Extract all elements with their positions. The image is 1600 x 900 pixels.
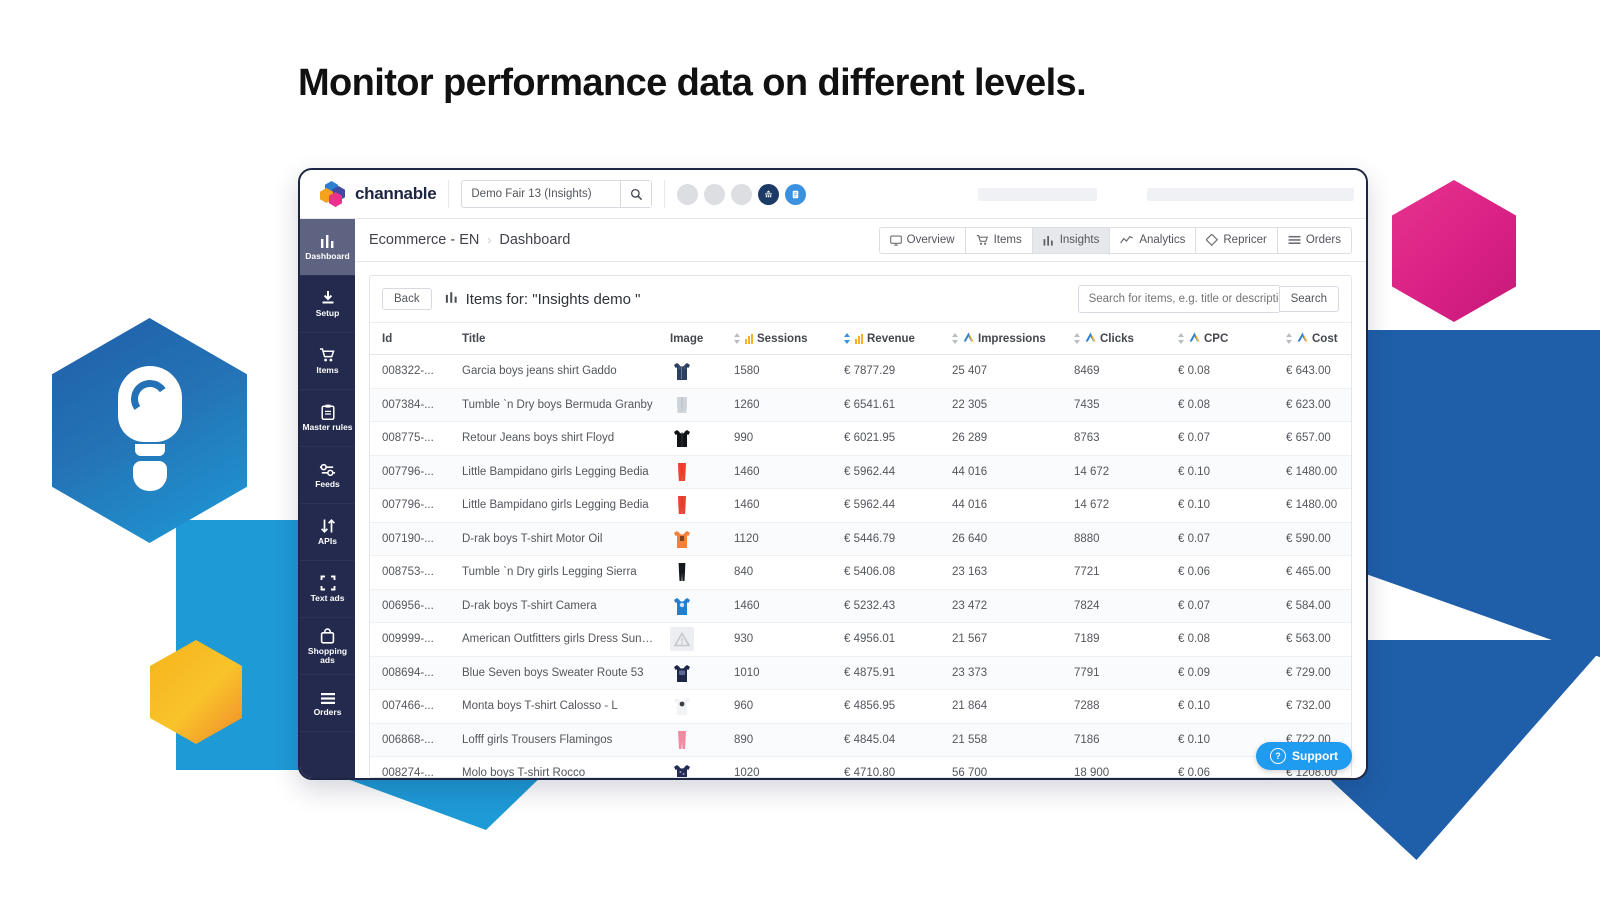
table-row[interactable]: 008322-...Garcia boys jeans shirt Gaddo1…	[370, 355, 1351, 389]
cell-id: 008322-...	[370, 355, 456, 389]
missing-image-placeholder-thumbnail	[670, 627, 722, 651]
tab-items[interactable]: Items	[965, 227, 1032, 254]
sidebar-item-apis[interactable]: APIs	[300, 504, 355, 561]
cell-cpc: € 0.08	[1172, 388, 1280, 422]
sidebar-item-label: Master rules	[302, 423, 352, 433]
cell-clicks: 14 672	[1068, 489, 1172, 523]
cell-clicks: 7186	[1068, 723, 1172, 757]
cell-impressions: 26 289	[946, 422, 1068, 456]
bar-chart-icon	[320, 232, 336, 249]
sort-toggle-icon[interactable]	[844, 333, 851, 344]
sort-toggle-icon[interactable]	[952, 333, 959, 344]
table-row[interactable]: 007796-...Little Bampidano girls Legging…	[370, 455, 1351, 489]
cell-sessions: 1020	[728, 757, 838, 778]
cell-cost: € 1480.00	[1280, 489, 1351, 523]
cell-id: 006868-...	[370, 723, 456, 757]
cell-revenue: € 4845.04	[838, 723, 946, 757]
cell-revenue: € 4856.95	[838, 690, 946, 724]
cell-cpc: € 0.07	[1172, 589, 1280, 623]
cart-icon	[319, 346, 336, 363]
cell-revenue: € 6541.61	[838, 388, 946, 422]
cell-revenue: € 5962.44	[838, 455, 946, 489]
sort-toggle-icon[interactable]	[1286, 333, 1293, 344]
cell-title: Tumble `n Dry boys Bermuda Granby	[456, 388, 664, 422]
tab-label: Overview	[907, 234, 955, 246]
table-row[interactable]: 008753-...Tumble `n Dry girls Legging Si…	[370, 556, 1351, 590]
items-table-head: IdTitleImageSessionsRevenueImpressionsCl…	[370, 323, 1351, 355]
breadcrumb-bar: Ecommerce - EN › Dashboard OverviewItems…	[355, 219, 1366, 262]
cell-revenue: € 5962.44	[838, 489, 946, 523]
cell-sessions: 930	[728, 623, 838, 657]
support-button[interactable]: ? Support	[1256, 742, 1352, 770]
column-header-cost[interactable]: Cost	[1280, 323, 1351, 355]
cell-cost: € 657.00	[1280, 422, 1351, 456]
topbar-divider-2	[664, 180, 665, 208]
cell-clicks: 7824	[1068, 589, 1172, 623]
download-icon	[320, 289, 336, 306]
red-legging-thumbnail	[670, 493, 722, 517]
logo-mark-icon	[320, 181, 346, 207]
cell-sessions: 960	[728, 690, 838, 724]
sidebar-item-items[interactable]: Items	[300, 333, 355, 390]
table-row[interactable]: 008694-...Blue Seven boys Sweater Route …	[370, 656, 1351, 690]
tab-orders[interactable]: Orders	[1277, 227, 1352, 254]
tab-label: Insights	[1060, 234, 1100, 246]
cell-title: Tumble `n Dry girls Legging Sierra	[456, 556, 664, 590]
column-header-label: CPC	[1204, 333, 1228, 345]
white-tshirt-thumbnail	[670, 694, 722, 718]
cell-revenue: € 5406.08	[838, 556, 946, 590]
table-row[interactable]: 008775-...Retour Jeans boys shirt Floyd9…	[370, 422, 1351, 456]
cell-impressions: 22 305	[946, 388, 1068, 422]
cell-revenue: € 5446.79	[838, 522, 946, 556]
cell-sessions: 1460	[728, 589, 838, 623]
table-row[interactable]: 007466-...Monta boys T-shirt Calosso - L…	[370, 690, 1351, 724]
column-header-image: Image	[664, 323, 728, 355]
search-button[interactable]: Search	[1279, 286, 1339, 312]
cell-cost: € 590.00	[1280, 522, 1351, 556]
cell-impressions: 23 472	[946, 589, 1068, 623]
tab-label: Items	[994, 234, 1022, 246]
cell-image	[664, 422, 728, 456]
table-row[interactable]: 007384-...Tumble `n Dry boys Bermuda Gra…	[370, 388, 1351, 422]
cell-clicks: 8763	[1068, 422, 1172, 456]
items-table-body: 008322-...Garcia boys jeans shirt Gaddo1…	[370, 355, 1351, 778]
cell-id: 008753-...	[370, 556, 456, 590]
cell-title: D-rak boys T-shirt Motor Oil	[456, 522, 664, 556]
cell-title: D-rak boys T-shirt Camera	[456, 589, 664, 623]
cell-impressions: 21 567	[946, 623, 1068, 657]
cell-sessions: 1120	[728, 522, 838, 556]
cell-sessions: 1260	[728, 388, 838, 422]
tab-label: Analytics	[1139, 234, 1185, 246]
cell-cost: € 729.00	[1280, 656, 1351, 690]
sidebar-item-label: APIs	[318, 537, 337, 547]
tab-label: Orders	[1306, 234, 1341, 246]
cell-title: Molo boys T-shirt Rocco	[456, 757, 664, 778]
cell-image	[664, 355, 728, 389]
cell-revenue: € 4956.01	[838, 623, 946, 657]
avatar-feed-icon[interactable]	[785, 184, 806, 205]
column-header-label: Image	[670, 333, 703, 345]
breadcrumb-page[interactable]: Dashboard	[499, 232, 570, 248]
cell-clicks: 7721	[1068, 556, 1172, 590]
cell-impressions: 23 373	[946, 656, 1068, 690]
blue-shape-right	[1348, 330, 1600, 660]
cell-revenue: € 4710.80	[838, 757, 946, 778]
content-area: Ecommerce - EN › Dashboard OverviewItems…	[355, 219, 1366, 778]
cell-clicks: 7189	[1068, 623, 1172, 657]
app-body: DashboardSetupItemsMaster rulesFeedsAPIs…	[300, 219, 1366, 778]
panel-title-text: Items for: "Insights demo "	[466, 291, 641, 308]
cell-impressions: 26 640	[946, 522, 1068, 556]
cell-impressions: 21 558	[946, 723, 1068, 757]
cell-title: Monta boys T-shirt Calosso - L	[456, 690, 664, 724]
sidebar-item-shopping-ads[interactable]: Shopping ads	[300, 618, 355, 675]
cell-title: Lofff girls Trousers Flamingos	[456, 723, 664, 757]
sort-toggle-icon[interactable]	[734, 333, 741, 344]
cell-title: Retour Jeans boys shirt Floyd	[456, 422, 664, 456]
sidebar-nav: DashboardSetupItemsMaster rulesFeedsAPIs…	[300, 219, 355, 778]
expand-frame-icon	[320, 574, 336, 591]
cell-cpc: € 0.10	[1172, 690, 1280, 724]
cell-sessions: 1010	[728, 656, 838, 690]
table-header-row: IdTitleImageSessionsRevenueImpressionsCl…	[370, 323, 1351, 355]
ads-a-icon	[963, 332, 974, 345]
cell-clicks: 8880	[1068, 522, 1172, 556]
orange-tshirt-thumbnail	[670, 527, 722, 551]
sidebar-item-label: Shopping ads	[300, 647, 355, 666]
sidebar-item-label: Dashboard	[305, 252, 349, 262]
cell-cost: € 584.00	[1280, 589, 1351, 623]
cell-image	[664, 455, 728, 489]
analytics-bars-icon	[855, 334, 863, 344]
column-header-clicks[interactable]: Clicks	[1068, 323, 1172, 355]
cell-id: 008694-...	[370, 656, 456, 690]
sidebar-item-dashboard[interactable]: Dashboard	[300, 219, 355, 276]
cell-title: Garcia boys jeans shirt Gaddo	[456, 355, 664, 389]
overview-icon	[890, 235, 902, 246]
tab-insights[interactable]: Insights	[1032, 227, 1110, 254]
cell-cost: € 563.00	[1280, 623, 1351, 657]
column-header-impressions[interactable]: Impressions	[946, 323, 1068, 355]
search-icon[interactable]	[620, 181, 651, 207]
avatar[interactable]	[677, 184, 698, 205]
sidebar-item-label: Text ads	[311, 594, 345, 604]
black-jacket-thumbnail	[670, 426, 722, 450]
cell-sessions: 1460	[728, 489, 838, 523]
cell-revenue: € 5232.43	[838, 589, 946, 623]
cell-impressions: 21 864	[946, 690, 1068, 724]
table-row[interactable]: 007796-...Little Bampidano girls Legging…	[370, 489, 1351, 523]
tab-label: Repricer	[1223, 234, 1266, 246]
cell-image	[664, 522, 728, 556]
items-table: IdTitleImageSessionsRevenueImpressionsCl…	[370, 323, 1351, 777]
column-header-label: Id	[382, 333, 392, 345]
breadcrumb: Ecommerce - EN › Dashboard	[369, 232, 570, 248]
cell-revenue: € 4875.91	[838, 656, 946, 690]
tab-overview[interactable]: Overview	[879, 227, 965, 254]
cell-image	[664, 757, 728, 778]
cell-id: 007796-...	[370, 455, 456, 489]
column-header-id: Id	[370, 323, 456, 355]
cell-cpc: € 0.08	[1172, 355, 1280, 389]
column-header-revenue[interactable]: Revenue	[838, 323, 946, 355]
cell-id: 007190-...	[370, 522, 456, 556]
cell-image	[664, 623, 728, 657]
sidebar-item-label: Items	[316, 366, 338, 376]
column-header-title: Title	[456, 323, 664, 355]
yellow-cube-shape	[150, 640, 242, 744]
cell-impressions: 56 700	[946, 757, 1068, 778]
cell-clicks: 7435	[1068, 388, 1172, 422]
cell-clicks: 7288	[1068, 690, 1172, 724]
arrows-updown-icon	[320, 517, 336, 534]
cell-cost: € 1480.00	[1280, 455, 1351, 489]
cell-image	[664, 388, 728, 422]
cell-id: 006956-...	[370, 589, 456, 623]
cell-clicks: 18 900	[1068, 757, 1172, 778]
column-header-label: Revenue	[867, 333, 915, 345]
table-row[interactable]: 009999-...American Outfitters girls Dres…	[370, 623, 1351, 657]
cell-sessions: 990	[728, 422, 838, 456]
ads-a-icon	[1085, 332, 1096, 345]
cell-impressions: 25 407	[946, 355, 1068, 389]
pink-cube-shape	[1392, 180, 1516, 322]
pink-trousers-thumbnail	[670, 728, 722, 752]
cell-image	[664, 723, 728, 757]
cell-id: 007384-...	[370, 388, 456, 422]
bar-chart-icon	[1043, 235, 1055, 246]
table-row[interactable]: 006956-...D-rak boys T-shirt Camera1460€…	[370, 589, 1351, 623]
column-header-label: Cost	[1312, 333, 1338, 345]
ads-a-icon	[1189, 332, 1200, 345]
sidebar-item-master-rules[interactable]: Master rules	[300, 390, 355, 447]
search-input[interactable]	[1079, 286, 1299, 312]
tab-repricer[interactable]: Repricer	[1195, 227, 1276, 254]
cell-id: 007466-...	[370, 690, 456, 724]
column-header-label: Impressions	[978, 333, 1046, 345]
cell-cost: € 643.00	[1280, 355, 1351, 389]
analytics-bars-icon	[745, 334, 753, 344]
blue-tshirt-thumbnail	[670, 594, 722, 618]
cell-image	[664, 656, 728, 690]
line-chart-icon	[1120, 235, 1134, 245]
sidebar-item-feeds[interactable]: Feeds	[300, 447, 355, 504]
cell-id: 009999-...	[370, 623, 456, 657]
table-row[interactable]: 008274-...Molo boys T-shirt Rocco1020€ 4…	[370, 757, 1351, 778]
logo-text: channable	[355, 184, 436, 204]
black-legging-thumbnail	[670, 560, 722, 584]
sidebar-item-setup[interactable]: Setup	[300, 276, 355, 333]
channable-logo[interactable]: channable	[312, 181, 436, 207]
cart-icon	[976, 234, 989, 246]
sidebar-item-label: Feeds	[315, 480, 340, 490]
column-header-sessions[interactable]: Sessions	[728, 323, 838, 355]
breadcrumb-project[interactable]: Ecommerce - EN	[369, 232, 479, 248]
cell-revenue: € 7877.29	[838, 355, 946, 389]
ads-a-icon	[1297, 332, 1308, 345]
cell-sessions: 1460	[728, 455, 838, 489]
lightbulb-icon	[118, 366, 182, 491]
table-row[interactable]: 007190-...D-rak boys T-shirt Motor Oil11…	[370, 522, 1351, 556]
cell-cost: € 465.00	[1280, 556, 1351, 590]
cell-image	[664, 690, 728, 724]
navy-denim-shirt-thumbnail	[670, 359, 722, 383]
app-topbar: channable	[300, 170, 1366, 219]
cell-title: Blue Seven boys Sweater Route 53	[456, 656, 664, 690]
cell-clicks: 14 672	[1068, 455, 1172, 489]
sidebar-item-label: Orders	[314, 708, 342, 718]
column-header-label: Sessions	[757, 333, 808, 345]
cell-cost: € 623.00	[1280, 388, 1351, 422]
cell-clicks: 8469	[1068, 355, 1172, 389]
cell-image	[664, 589, 728, 623]
column-header-label: Clicks	[1100, 333, 1134, 345]
cell-revenue: € 6021.95	[838, 422, 946, 456]
cell-cpc: € 0.06	[1172, 556, 1280, 590]
module-tabs: OverviewItemsInsightsAnalyticsRepricerOr…	[879, 227, 1352, 254]
breadcrumb-separator-icon: ›	[487, 233, 491, 247]
cell-cpc: € 0.10	[1172, 455, 1280, 489]
panel-title: Items for: "Insights demo "	[445, 291, 641, 308]
cell-sessions: 840	[728, 556, 838, 590]
support-label: Support	[1292, 749, 1338, 763]
cell-title: Little Bampidano girls Legging Bedia	[456, 455, 664, 489]
cell-id: 007796-...	[370, 489, 456, 523]
cell-image	[664, 556, 728, 590]
items-panel: Back Items for: "Insights demo " Searc	[369, 275, 1352, 778]
back-button[interactable]: Back	[382, 288, 432, 310]
sidebar-item-label: Setup	[316, 309, 340, 319]
cell-sessions: 890	[728, 723, 838, 757]
items-table-scroll[interactable]: IdTitleImageSessionsRevenueImpressionsCl…	[370, 323, 1351, 777]
list-lines-icon	[1288, 235, 1301, 245]
cell-cpc: € 0.08	[1172, 623, 1280, 657]
panel-header: Back Items for: "Insights demo " Searc	[370, 276, 1351, 323]
table-row[interactable]: 006868-...Lofff girls Trousers Flamingos…	[370, 723, 1351, 757]
sidebar-item-text-ads[interactable]: Text ads	[300, 561, 355, 618]
topbar-placeholder-2	[1147, 188, 1354, 201]
tab-analytics[interactable]: Analytics	[1109, 227, 1195, 254]
grey-shorts-thumbnail	[670, 393, 722, 417]
cell-cpc: € 0.09	[1172, 656, 1280, 690]
avatar[interactable]	[731, 184, 752, 205]
cell-clicks: 7791	[1068, 656, 1172, 690]
navy-tshirt-thumbnail	[670, 761, 722, 777]
cell-impressions: 23 163	[946, 556, 1068, 590]
cell-title: American Outfitters girls Dress Sunsh...	[456, 623, 664, 657]
shopping-bag-icon	[320, 627, 335, 644]
cell-title: Little Bampidano girls Legging Bedia	[456, 489, 664, 523]
red-legging-thumbnail	[670, 460, 722, 484]
sort-toggle-icon[interactable]	[1074, 333, 1081, 344]
cell-cost: € 732.00	[1280, 690, 1351, 724]
cell-cpc: € 0.07	[1172, 522, 1280, 556]
avatar-tools-icon[interactable]	[758, 184, 779, 205]
topbar-divider	[448, 180, 449, 208]
column-header-cpc[interactable]: CPC	[1172, 323, 1280, 355]
page-headline: Monitor performance data on different le…	[298, 62, 1086, 105]
sliders-icon	[319, 460, 336, 477]
account-search[interactable]	[461, 180, 652, 208]
sidebar-item-orders[interactable]: Orders	[300, 675, 355, 732]
cell-image	[664, 489, 728, 523]
avatar-group	[677, 184, 806, 205]
app-window: channable DashboardSetupItemsMaster ru	[298, 168, 1368, 780]
tag-icon	[1206, 234, 1218, 246]
account-search-input[interactable]	[462, 181, 620, 207]
cell-id: 008775-...	[370, 422, 456, 456]
clipboard-icon	[321, 403, 335, 420]
avatar[interactable]	[704, 184, 725, 205]
cell-cpc: € 0.10	[1172, 489, 1280, 523]
sort-toggle-icon[interactable]	[1178, 333, 1185, 344]
cell-cpc: € 0.07	[1172, 422, 1280, 456]
topbar-placeholder-1	[978, 188, 1096, 201]
lightbulb-hexagon	[52, 318, 247, 543]
navy-sweater-thumbnail	[670, 661, 722, 685]
item-search-box[interactable]	[1078, 285, 1279, 313]
cell-sessions: 1580	[728, 355, 838, 389]
question-circle-icon: ?	[1270, 748, 1286, 764]
column-header-label: Title	[462, 333, 485, 345]
cell-impressions: 44 016	[946, 455, 1068, 489]
list-lines-icon	[320, 688, 336, 705]
cell-id: 008274-...	[370, 757, 456, 778]
bar-chart-icon	[445, 291, 459, 308]
cell-impressions: 44 016	[946, 489, 1068, 523]
